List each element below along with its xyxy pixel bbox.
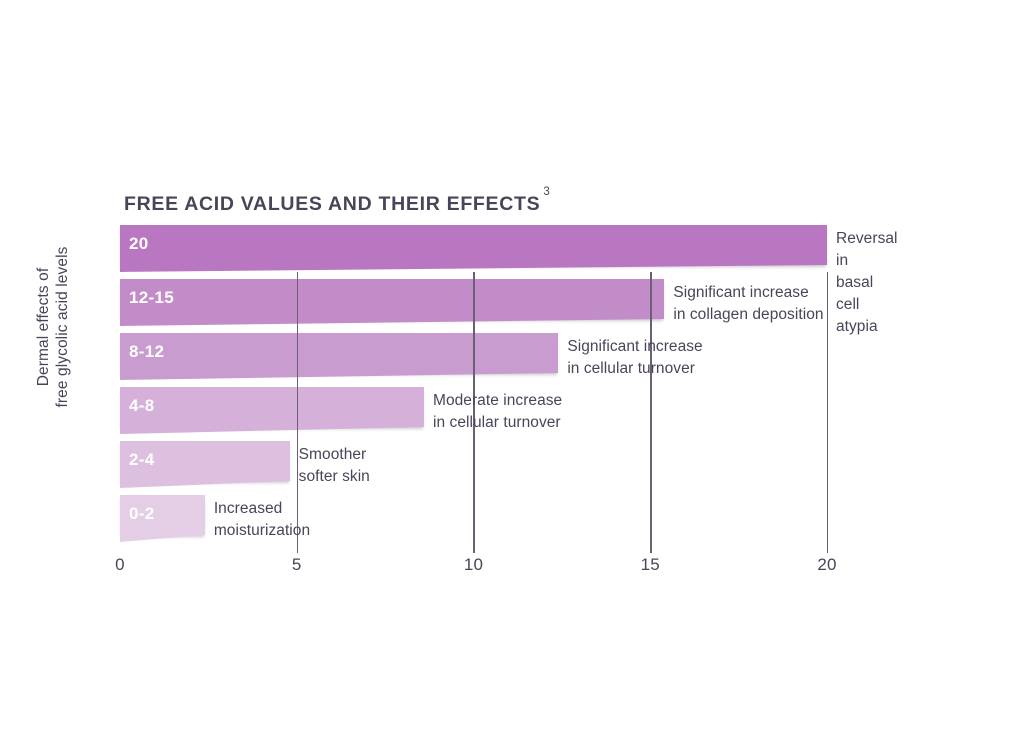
x-tick-label: 10 bbox=[464, 555, 483, 575]
x-tick-label: 15 bbox=[641, 555, 660, 575]
bar-skew-edge bbox=[120, 427, 424, 434]
bar-row: 12-15 bbox=[120, 279, 664, 333]
bar-row: 2-4 bbox=[120, 441, 290, 495]
bar-skew-edge bbox=[120, 265, 827, 272]
bar-value-label: 4-8 bbox=[129, 396, 154, 416]
bar-row: 4-8 bbox=[120, 387, 424, 441]
y-axis-title: Dermal effects of free glycolic acid lev… bbox=[34, 212, 72, 442]
gridline bbox=[827, 272, 828, 553]
bar-annotation: Significant increase in collagen deposit… bbox=[673, 282, 823, 326]
bar-skew-edge bbox=[120, 535, 205, 542]
bar-value-label: 0-2 bbox=[129, 504, 154, 524]
bar-row: 8-12 bbox=[120, 333, 558, 387]
chart-title: FREE ACID VALUES AND THEIR EFFECTS3 bbox=[124, 193, 550, 216]
bar-annotation: Smoother softer skin bbox=[299, 444, 370, 488]
x-tick-label: 20 bbox=[817, 555, 836, 575]
bar bbox=[120, 279, 664, 319]
bar-annotation: Increased moisturization bbox=[214, 498, 310, 542]
plot-area: FREE ACID VALUES AND THEIR EFFECTS3 20Re… bbox=[120, 185, 880, 550]
x-tick-label: 0 bbox=[115, 555, 125, 575]
bar-chart: Dermal effects of free glycolic acid lev… bbox=[0, 0, 1014, 737]
bar bbox=[120, 333, 558, 373]
bar-skew-edge bbox=[120, 373, 558, 380]
gridline bbox=[650, 272, 651, 553]
chart-title-text: FREE ACID VALUES AND THEIR EFFECTS bbox=[124, 193, 540, 215]
chart-title-superscript: 3 bbox=[540, 186, 549, 198]
bar-value-label: 8-12 bbox=[129, 342, 164, 362]
bar-row: 0-2 bbox=[120, 495, 205, 549]
bar-skew-edge bbox=[120, 481, 290, 488]
bar-group: 20Reversal in basal cell atypia12-15Sign… bbox=[120, 225, 880, 550]
bar-row: 20 bbox=[120, 225, 827, 279]
bar-value-label: 12-15 bbox=[129, 288, 174, 308]
bar bbox=[120, 225, 827, 265]
bar-value-label: 20 bbox=[129, 234, 149, 254]
bar-annotation: Reversal in basal cell atypia bbox=[836, 228, 898, 338]
bar-annotation: Significant increase in cellular turnove… bbox=[567, 336, 702, 380]
x-tick-label: 5 bbox=[292, 555, 302, 575]
bar-annotation: Moderate increase in cellular turnover bbox=[433, 390, 562, 434]
bar-skew-edge bbox=[120, 319, 664, 326]
bar-value-label: 2-4 bbox=[129, 450, 154, 470]
bar bbox=[120, 387, 424, 427]
